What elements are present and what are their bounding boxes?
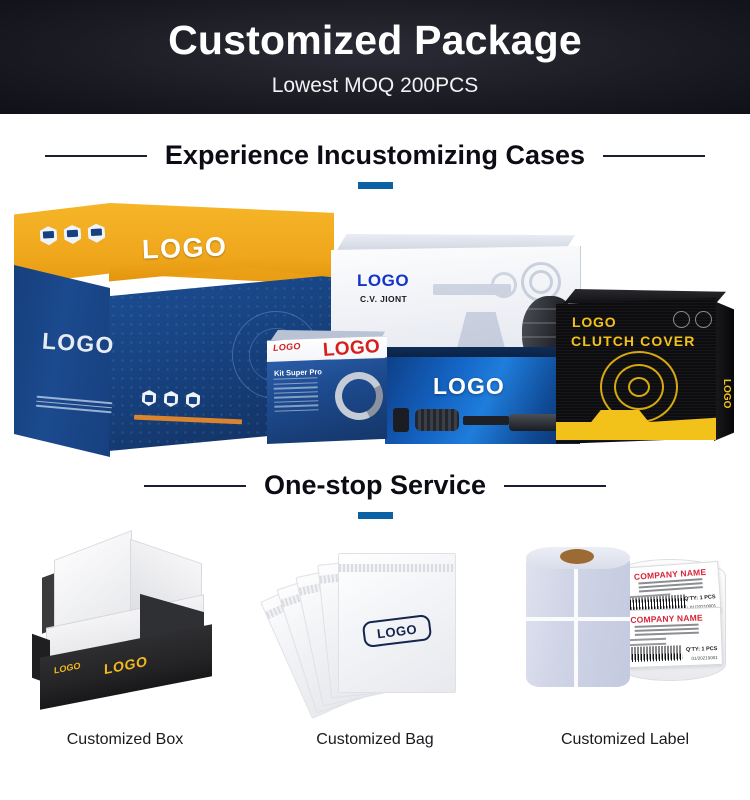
heading-accent-bar <box>358 182 393 189</box>
kit-box-product-name: Kit Super Pro <box>274 367 322 378</box>
certification-seal-icon <box>673 311 690 328</box>
product-clutch-cover-box: LOGO CLUTCH COVER LOGO <box>556 289 734 444</box>
product-kit-super-pro-box: LOGO LOGO Kit Super Pro <box>265 330 389 444</box>
shield-badge-icon <box>40 226 58 246</box>
page-banner: Customized Package Lowest MOQ 200PCS <box>0 0 750 114</box>
clutch-box-seal-icons <box>673 311 712 328</box>
label-qty: Q'TY: 1 PCS <box>686 646 718 653</box>
section-title-onestop: One-stop Service <box>264 472 486 499</box>
heading-rule-left <box>45 155 147 157</box>
service-cards: LOGO LOGO Customized Box LOGO Customized… <box>0 531 750 748</box>
cv-box-logo: LOGO <box>357 271 409 291</box>
shield-badge-icon <box>64 225 82 245</box>
clutch-box-title: CLUTCH COVER <box>571 333 695 349</box>
label-roll-front <box>526 553 630 687</box>
label-product-lines <box>635 624 699 638</box>
cv-box-product-name: C.V. JIONT <box>360 294 407 304</box>
heading-rule-right <box>504 485 606 487</box>
carton-left-panel <box>14 265 110 457</box>
banner-title: Customized Package <box>168 20 582 61</box>
service-card-label[interactable]: LOGO COMPANY NAME Q'TY: 1 PCS 01/2021000… <box>500 531 750 748</box>
clutch-box-side-logo: LOGO <box>721 379 732 408</box>
shield-badge-icon <box>142 390 157 407</box>
heading-accent-bar <box>358 512 393 519</box>
service-label-label: Customized Label <box>561 732 689 748</box>
clutch-box-side-panel <box>714 301 734 441</box>
heading-row: One-stop Service <box>0 472 750 499</box>
carton-front-logo: LOGO <box>41 328 115 360</box>
label-serial: 01/20210001 <box>691 655 717 661</box>
wide-box-parts-graphic <box>393 404 575 434</box>
heading-row: Experience Incustomizing Cases <box>0 142 750 169</box>
section-header-onestop: One-stop Service <box>0 452 750 519</box>
service-label-bag: Customized Bag <box>316 732 433 748</box>
heading-rule-right <box>603 155 705 157</box>
label-rolls: LOGO COMPANY NAME Q'TY: 1 PCS 01/2021000… <box>520 547 732 699</box>
carton-badges-top <box>40 223 106 245</box>
certification-seal-icon <box>695 311 712 328</box>
carton-lid-logo: LOGO <box>141 231 228 265</box>
bag-logo: LOGO <box>362 614 433 648</box>
service-label-box: Customized Box <box>67 732 184 748</box>
wide-box-logo: LOGO <box>433 373 505 400</box>
customized-box-image: LOGO LOGO <box>10 531 240 716</box>
banner-subtitle: Lowest MOQ 200PCS <box>272 75 479 96</box>
service-card-bag[interactable]: LOGO Customized Bag <box>250 531 500 748</box>
shield-badge-icon <box>87 223 105 243</box>
kit-box-logo-large: LOGO <box>322 336 381 362</box>
service-card-box[interactable]: LOGO LOGO Customized Box <box>0 531 250 748</box>
product-showcase: LOGO LOGO LOGO C.V. JIONT LOGO <box>0 197 750 452</box>
label-roll-core <box>560 549 594 564</box>
customized-bag-image: LOGO <box>260 531 490 716</box>
mailer-box: LOGO LOGO <box>32 545 222 705</box>
section-title-experience: Experience Incustomizing Cases <box>165 142 585 169</box>
customized-label-image: LOGO COMPANY NAME Q'TY: 1 PCS 01/2021000… <box>510 531 740 716</box>
label-qty: Q'TY: 1 PCS <box>684 594 716 602</box>
clutch-box-logo: LOGO <box>572 314 616 330</box>
kit-box-fineprint <box>273 377 318 415</box>
plastic-bag-front: LOGO <box>338 553 456 693</box>
kit-box-logo-small: LOGO <box>273 341 301 353</box>
plastic-bag-stack: LOGO <box>280 541 472 709</box>
product-wide-blue-box: LOGO <box>385 347 580 444</box>
carton-badges-front <box>142 390 201 409</box>
shield-badge-icon <box>164 391 179 408</box>
gear-badge-icon <box>186 392 201 409</box>
section-header-experience: Experience Incustomizing Cases <box>0 114 750 189</box>
heading-rule-left <box>144 485 246 487</box>
